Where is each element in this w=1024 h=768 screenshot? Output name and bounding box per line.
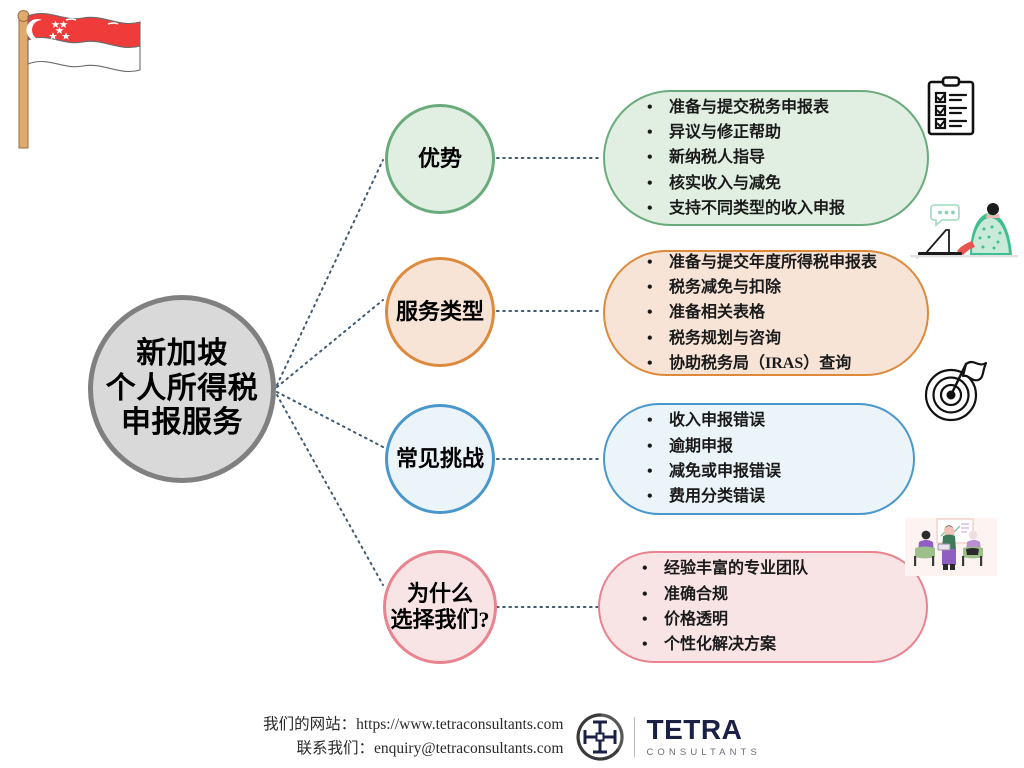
bullet-icon: • — [647, 459, 653, 484]
list-item: •核实收入与减免 — [669, 171, 927, 196]
footer: 我们的网站：https://www.tetraconsultants.com 联… — [0, 706, 1024, 768]
footer-contact-row: 联系我们：enquiry@tetraconsultants.com — [263, 737, 563, 761]
branch-node-advantages-label: 优势 — [418, 146, 462, 172]
tetra-logo-wordmark: TETRA CONSULTANTS — [634, 717, 760, 757]
list-item: •新纳税人指导 — [669, 145, 927, 170]
branch-panel-common-challenges: •收入申报错误 •逾期申报 •减免或申报错误 •费用分类错误 — [603, 403, 915, 515]
central-node-line-3: 申报服务 — [121, 406, 243, 441]
list-item: •费用分类错误 — [669, 484, 913, 509]
list-item: •减免或申报错误 — [669, 459, 913, 484]
person-at-laptop-illustration — [908, 197, 1020, 259]
footer-contact-label: 联系我们： — [296, 740, 374, 757]
list-item: •准确合规 — [664, 582, 926, 607]
footer-website-value[interactable]: https://www.tetraconsultants.com — [356, 716, 563, 733]
list-item: •支持不同类型的收入申报 — [669, 196, 927, 221]
list-item: •准备与提交税务申报表 — [669, 95, 927, 120]
bullet-icon: • — [647, 171, 653, 196]
bullet-icon: • — [647, 275, 653, 300]
bullet-icon: • — [647, 434, 653, 459]
list-item: •经验丰富的专业团队 — [664, 556, 926, 581]
team-meeting-illustration — [905, 518, 997, 580]
singapore-flag-icon — [8, 4, 168, 164]
list-item: •价格透明 — [664, 607, 926, 632]
branch-node-why-choose-us-line-2: 选择我们? — [390, 607, 489, 633]
list-item: •协助税务局（IRAS）查询 — [669, 351, 927, 376]
bullet-icon: • — [647, 120, 653, 145]
list-item: •异议与修正帮助 — [669, 120, 927, 145]
connector-hub-to-advantages — [277, 160, 383, 385]
footer-website-label: 我们的网站： — [263, 716, 356, 733]
list-item: •逾期申报 — [669, 434, 913, 459]
branch-list-advantages: •准备与提交税务申报表 •异议与修正帮助 •新纳税人指导 •核实收入与减免 •支… — [605, 95, 927, 221]
branch-node-common-challenges-label: 常见挑战 — [396, 446, 484, 472]
branch-list-common-challenges: •收入申报错误 •逾期申报 •减免或申报错误 •费用分类错误 — [605, 408, 913, 509]
bullet-icon: • — [647, 326, 653, 351]
branch-node-service-types[interactable]: 服务类型 — [385, 257, 495, 367]
branch-node-service-types-label: 服务类型 — [396, 299, 484, 325]
bullet-icon: • — [647, 300, 653, 325]
tetra-logo-mark — [575, 712, 625, 762]
bullet-icon: • — [642, 556, 648, 581]
branch-panel-why-choose-us: •经验丰富的专业团队 •准确合规 •价格透明 •个性化解决方案 — [598, 551, 928, 663]
branch-list-service-types: •准备与提交年度所得税申报表 •税务减免与扣除 •准备相关表格 •税务规划与咨询… — [605, 250, 927, 376]
list-item: •收入申报错误 — [669, 408, 913, 433]
target-with-flag-icon — [918, 352, 998, 424]
branch-panel-service-types: •准备与提交年度所得税申报表 •税务减免与扣除 •准备相关表格 •税务规划与咨询… — [603, 250, 929, 376]
footer-contact-value[interactable]: enquiry@tetraconsultants.com — [374, 740, 563, 757]
bullet-icon: • — [647, 250, 653, 275]
bullet-icon: • — [647, 196, 653, 221]
connector-hub-to-why-choose-us — [277, 395, 383, 585]
bullet-icon: • — [647, 351, 653, 376]
connector-hub-to-common-challenges — [277, 392, 383, 447]
tetra-logo-subtitle: CONSULTANTS — [646, 748, 760, 758]
branch-node-common-challenges[interactable]: 常见挑战 — [385, 404, 495, 514]
bullet-icon: • — [642, 632, 648, 657]
tetra-logo-name: TETRA — [646, 716, 760, 744]
bullet-icon: • — [642, 607, 648, 632]
clipboard-checklist-icon — [925, 76, 977, 138]
branch-node-why-choose-us[interactable]: 为什么 选择我们? — [383, 550, 497, 664]
branch-node-why-choose-us-line-1: 为什么 — [407, 581, 473, 607]
branch-list-why-choose-us: •经验丰富的专业团队 •准确合规 •价格透明 •个性化解决方案 — [600, 556, 926, 657]
bullet-icon: • — [647, 95, 653, 120]
bullet-icon: • — [647, 408, 653, 433]
list-item: •准备相关表格 — [669, 300, 927, 325]
branch-panel-advantages: •准备与提交税务申报表 •异议与修正帮助 •新纳税人指导 •核实收入与减免 •支… — [603, 90, 929, 226]
connector-hub-to-service-types — [277, 300, 383, 387]
footer-contact-text: 我们的网站：https://www.tetraconsultants.com 联… — [263, 713, 563, 760]
central-node-line-2: 个人所得税 — [106, 372, 259, 407]
tetra-consultants-logo: TETRA CONSULTANTS — [575, 712, 760, 762]
list-item: •税务规划与咨询 — [669, 326, 927, 351]
bullet-icon: • — [647, 145, 653, 170]
central-node[interactable]: 新加坡 个人所得税 申报服务 — [88, 295, 276, 483]
central-node-line-1: 新加坡 — [136, 337, 228, 372]
list-item: •税务减免与扣除 — [669, 275, 927, 300]
bullet-icon: • — [647, 484, 653, 509]
list-item: •准备与提交年度所得税申报表 — [669, 250, 927, 275]
branch-node-advantages[interactable]: 优势 — [385, 104, 495, 214]
footer-website-row: 我们的网站：https://www.tetraconsultants.com — [263, 713, 563, 737]
infographic-canvas: 新加坡 个人所得税 申报服务 优势 •准备与提交税务申报表 •异议与修正帮助 •… — [0, 0, 1024, 768]
bullet-icon: • — [642, 582, 648, 607]
list-item: •个性化解决方案 — [664, 632, 926, 657]
